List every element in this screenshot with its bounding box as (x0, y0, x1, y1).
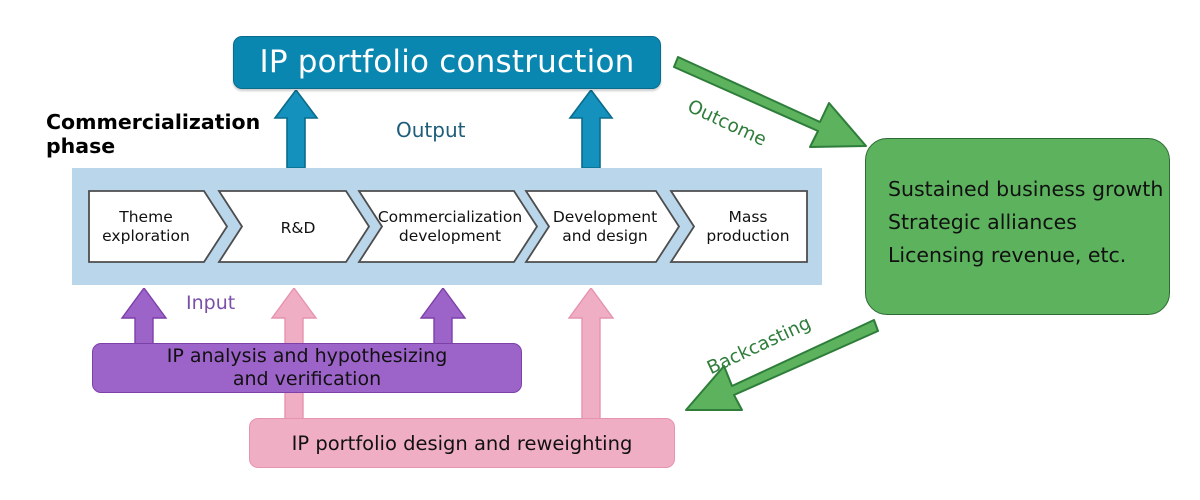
output-arrow-left (273, 90, 319, 168)
ip-analysis-box[interactable]: IP analysis and hypothesizing and verifi… (92, 343, 522, 393)
diagram-canvas: IP portfolio construction Commercializat… (0, 0, 1200, 500)
ip-portfolio-construction-box[interactable]: IP portfolio construction (233, 36, 661, 89)
input-arrow-purple-right (419, 288, 467, 350)
ip-portfolio-design-box[interactable]: IP portfolio design and reweighting (249, 418, 675, 468)
output-label: Output (396, 118, 465, 142)
process-step-theme-exploration[interactable]: Theme exploration (88, 190, 228, 263)
input-arrow-purple-left (120, 288, 168, 350)
phase-label-line2: phase (46, 134, 276, 158)
step-4-line2: and design (562, 227, 648, 245)
step-3-line2: development (399, 227, 501, 245)
outcome-item-3: Licensing revenue, etc. (888, 239, 1169, 272)
process-step-mass-production[interactable]: Mass production (670, 190, 808, 263)
process-step-rd[interactable]: R&D (218, 190, 370, 263)
step-5-line1: Mass (728, 208, 767, 226)
input-arrow-pink-right (567, 288, 615, 438)
phase-label-line1: Commercialization (46, 110, 276, 134)
ip-portfolio-construction-label: IP portfolio construction (260, 47, 635, 78)
process-step-development-and-design[interactable]: Development and design (525, 190, 680, 263)
process-step-commercialization-development[interactable]: Commercialization development (358, 190, 538, 263)
step-5-line2: production (706, 227, 789, 245)
step-3-line1: Commercialization (378, 208, 522, 226)
step-1-line2: exploration (102, 227, 190, 245)
ip-portfolio-design-label: IP portfolio design and reweighting (292, 432, 633, 455)
outcome-item-1: Sustained business growth (888, 173, 1169, 206)
output-arrow-right (568, 90, 614, 168)
input-label: Input (186, 292, 235, 314)
ip-analysis-line1: IP analysis and hypothesizing (167, 345, 448, 368)
commercialization-phase-label: Commercialization phase (46, 110, 276, 158)
step-1-line1: Theme (118, 208, 172, 226)
outcome-results-box[interactable]: Sustained business growth Strategic alli… (865, 138, 1170, 315)
step-2-line1: R&D (281, 219, 316, 237)
ip-analysis-line2: and verification (167, 368, 448, 391)
step-4-line1: Development (553, 208, 657, 226)
outcome-item-2: Strategic alliances (888, 206, 1169, 239)
